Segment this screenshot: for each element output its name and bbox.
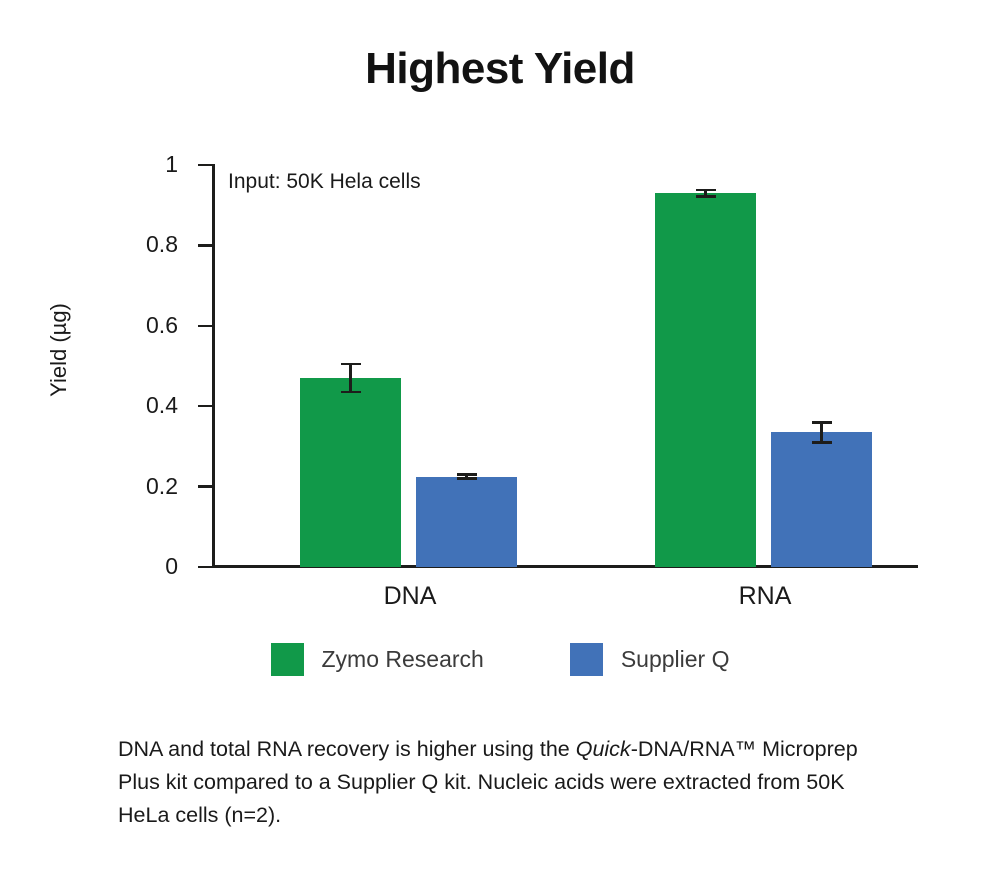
bar-dna-zymo-research <box>300 378 401 567</box>
legend-label-supplier-q: Supplier Q <box>621 646 730 673</box>
error-bar-cap-lower <box>696 195 716 198</box>
bar-dna-supplier-q <box>416 477 517 567</box>
bars-layer <box>0 165 1000 567</box>
bar-chart: Yield (µg) 00.20.40.60.81 Input: 50K Hel… <box>0 0 1000 700</box>
caption-text-italic: Quick <box>576 737 631 761</box>
error-bar-cap-upper <box>341 363 361 366</box>
caption-text-pre: DNA and total RNA recovery is higher usi… <box>118 737 576 761</box>
error-bar-cap-lower <box>457 477 477 480</box>
figure-caption: DNA and total RNA recovery is higher usi… <box>118 733 888 832</box>
legend-item-zymo-research: Zymo Research <box>271 643 484 676</box>
bar-rna-supplier-q <box>771 432 872 567</box>
error-bar-cap-upper <box>457 473 477 476</box>
legend-swatch-green <box>271 643 304 676</box>
x-tick-label-dna: DNA <box>290 582 530 611</box>
error-bar-cap-lower <box>341 391 361 394</box>
error-bar-line <box>820 422 823 442</box>
error-bar-cap-upper <box>696 189 716 192</box>
bar-rna-zymo-research <box>655 193 756 567</box>
error-bar-cap-lower <box>812 441 832 444</box>
legend-label-zymo-research: Zymo Research <box>322 646 484 673</box>
legend-swatch-blue <box>570 643 603 676</box>
x-tick-label-rna: RNA <box>645 582 885 611</box>
error-bar-line <box>349 364 352 392</box>
error-bar-cap-upper <box>812 421 832 424</box>
legend-item-supplier-q: Supplier Q <box>570 643 730 676</box>
chart-legend: Zymo Research Supplier Q <box>0 643 1000 676</box>
